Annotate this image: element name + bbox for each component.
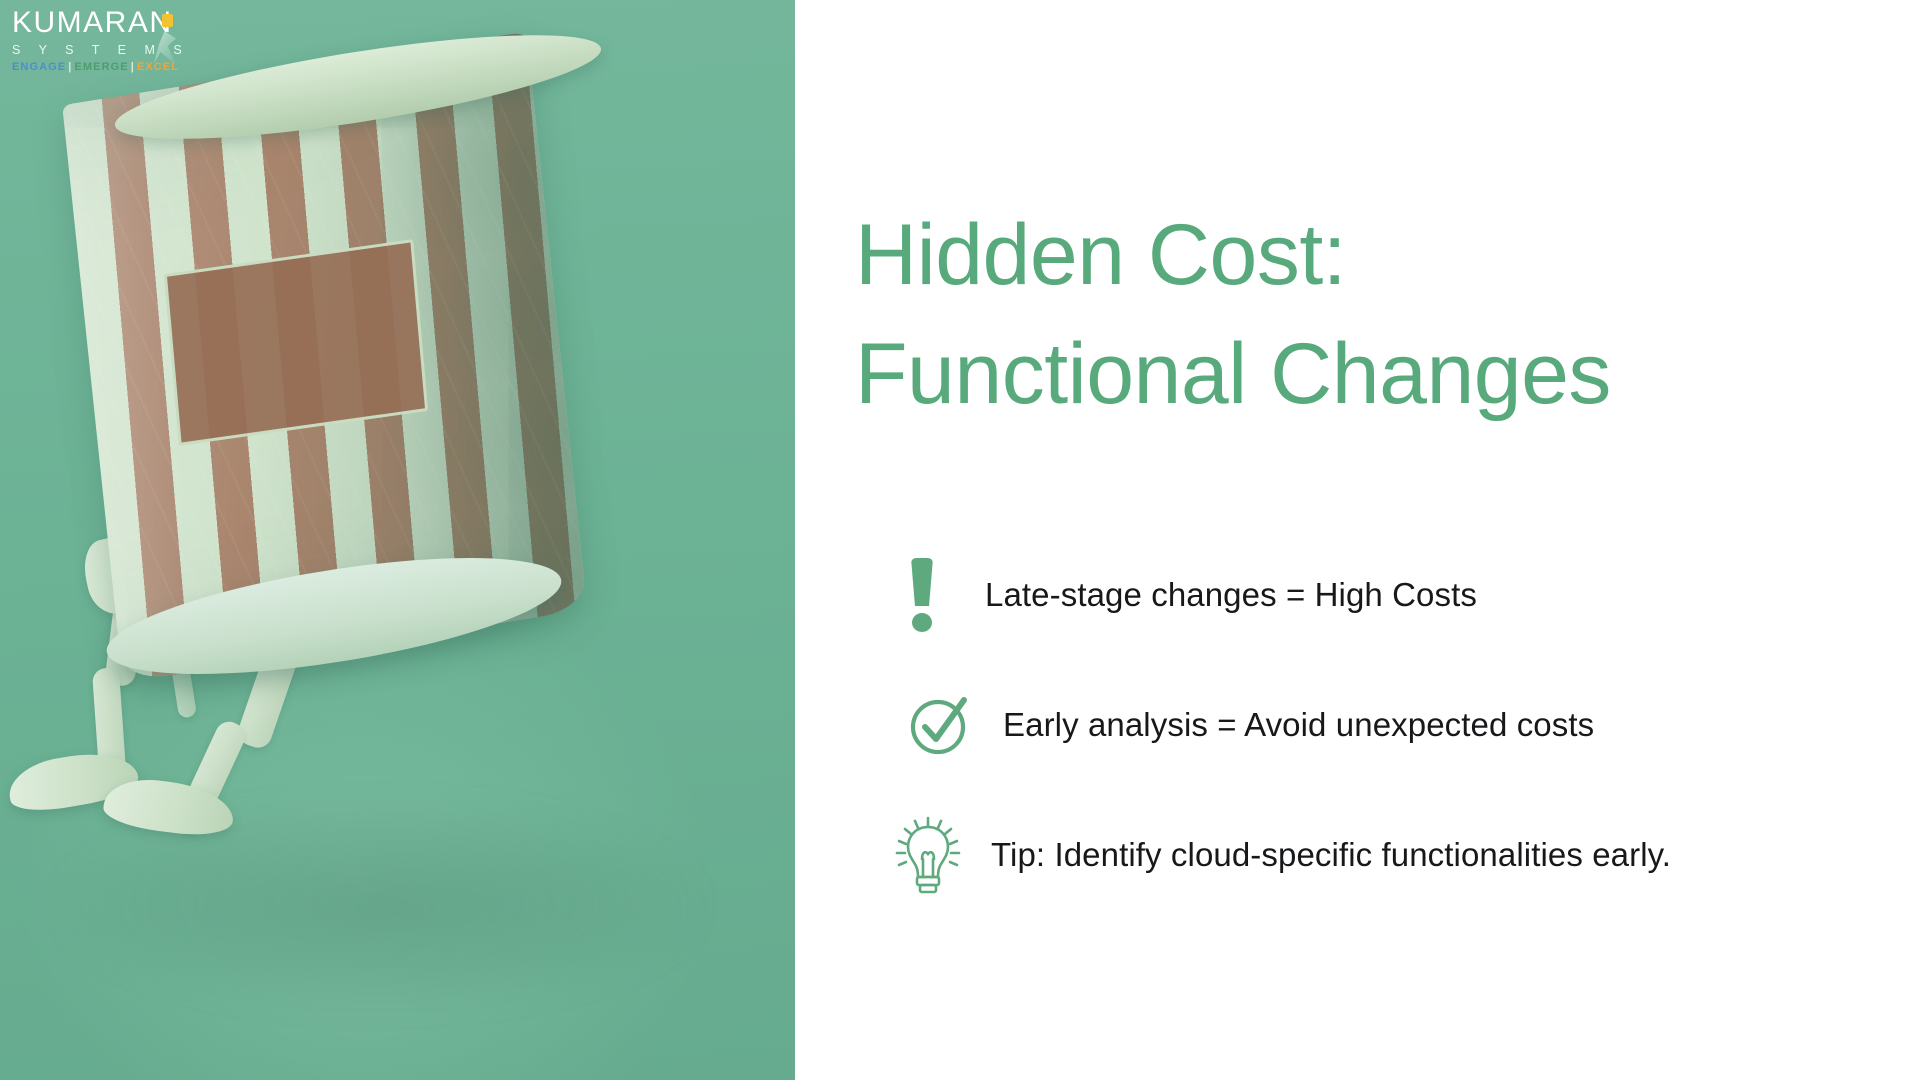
- company-logo[interactable]: KUMARAN S Y S T E M S ENGAGE|EMERGE|EXCE…: [12, 8, 189, 73]
- left-image-panel: KUMARAN S Y S T E M S ENGAGE|EMERGE|EXCE…: [0, 0, 795, 1080]
- tagline-emerge: EMERGE: [74, 61, 128, 73]
- page-title-line-2: Functional Changes: [855, 315, 1865, 434]
- logo-flame-icon: [152, 14, 180, 66]
- page-title-line-1: Hidden Cost:: [855, 196, 1865, 315]
- check-circle-icon: [903, 686, 977, 764]
- list-item-label: Tip: Identify cloud-specific functionali…: [991, 834, 1671, 875]
- floor-shadow: [60, 800, 700, 1010]
- list-item: Late-stage changes = High Costs: [885, 552, 1895, 638]
- bag-label-panel: [164, 239, 428, 446]
- content-panel: Hidden Cost: Functional Changes Late-sta…: [795, 0, 1920, 1080]
- tagline-separator-2: |: [129, 61, 137, 73]
- logo-swoosh-shape: [154, 31, 176, 65]
- logo-accent-dot: [162, 14, 173, 27]
- lightbulb-icon: [891, 816, 965, 894]
- bullet-list: Late-stage changes = High Costs Early an…: [885, 552, 1895, 898]
- list-item: Tip: Identify cloud-specific functionali…: [891, 812, 1895, 898]
- tagline-engage: ENGAGE: [12, 61, 66, 73]
- list-item-label: Late-stage changes = High Costs: [985, 574, 1477, 615]
- page-title: Hidden Cost: Functional Changes: [855, 196, 1865, 433]
- exclamation-icon: [885, 556, 959, 634]
- slide: KUMARAN S Y S T E M S ENGAGE|EMERGE|EXCE…: [0, 0, 1920, 1080]
- list-item-label: Early analysis = Avoid unexpected costs: [1003, 704, 1594, 745]
- list-item: Early analysis = Avoid unexpected costs: [903, 682, 1895, 768]
